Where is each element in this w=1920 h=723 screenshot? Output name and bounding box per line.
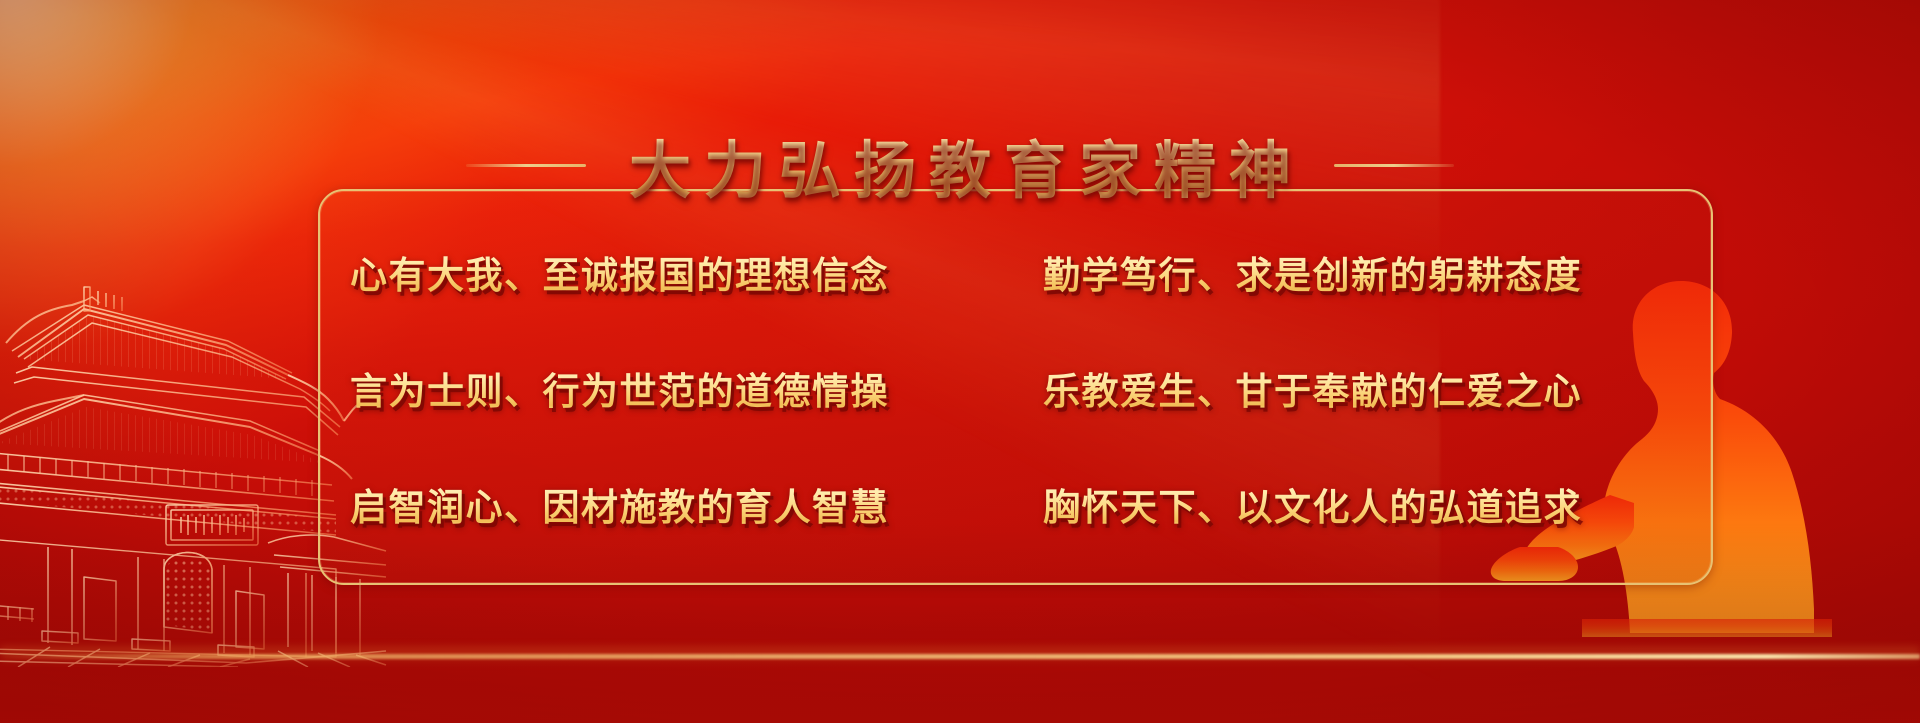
banner-root: 大力弘扬教育家精神 心有大我、至诚报国的理想信念 勤学笃行、求是创新的躬耕态度 … xyxy=(0,0,1920,723)
gold-frame-border xyxy=(318,189,1713,585)
